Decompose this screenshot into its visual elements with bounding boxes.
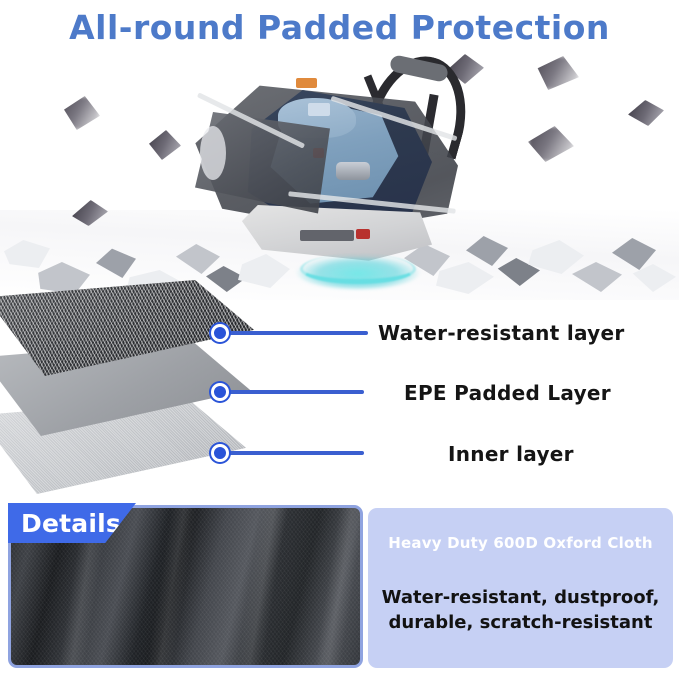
infographic-page: All-round Padded Protection [0,0,679,679]
hero-illustration [0,48,679,300]
base-indicator-red [356,229,370,239]
impact-glow-arc [300,254,416,284]
car-seat-in-travel-bag [178,54,488,289]
debris-shard [628,100,664,126]
callout-dot-water-resistant [211,324,229,342]
seat-tag [308,103,330,116]
fabric-info-heading: Heavy Duty 600D Oxford Cloth [368,534,673,552]
callout-dot-epe-padded [211,383,229,401]
fabric-info-panel: Heavy Duty 600D Oxford Cloth Water-resis… [368,508,673,668]
base-indicator-strip [300,230,354,241]
layer-label-inner: Inner layer [448,442,574,466]
layer-label-epe-padded: EPE Padded Layer [404,381,611,405]
details-badge-label: Details [21,509,121,538]
callout-dot-inner [211,444,229,462]
harness-buckle [336,162,370,180]
callout-line-epe-padded [226,390,364,394]
layer-stack-diagram [0,278,292,490]
page-title: All-round Padded Protection [0,8,679,47]
debris-shard [535,56,579,90]
debris-shard [528,126,574,162]
layer-label-water-resistant: Water-resistant layer [378,321,625,345]
debris-shard [147,130,181,160]
bag-orange-tab [296,78,317,88]
fabric-info-line-1: Water-resistant, dustproof, [374,586,667,611]
fabric-info-body: Water-resistant, dustproof, durable, scr… [374,586,667,636]
callout-line-inner [226,451,364,455]
callout-line-water-resistant [226,331,368,335]
bag-side-window [200,126,226,180]
debris-shard [60,96,100,130]
fabric-info-line-2: durable, scratch-resistant [374,611,667,636]
